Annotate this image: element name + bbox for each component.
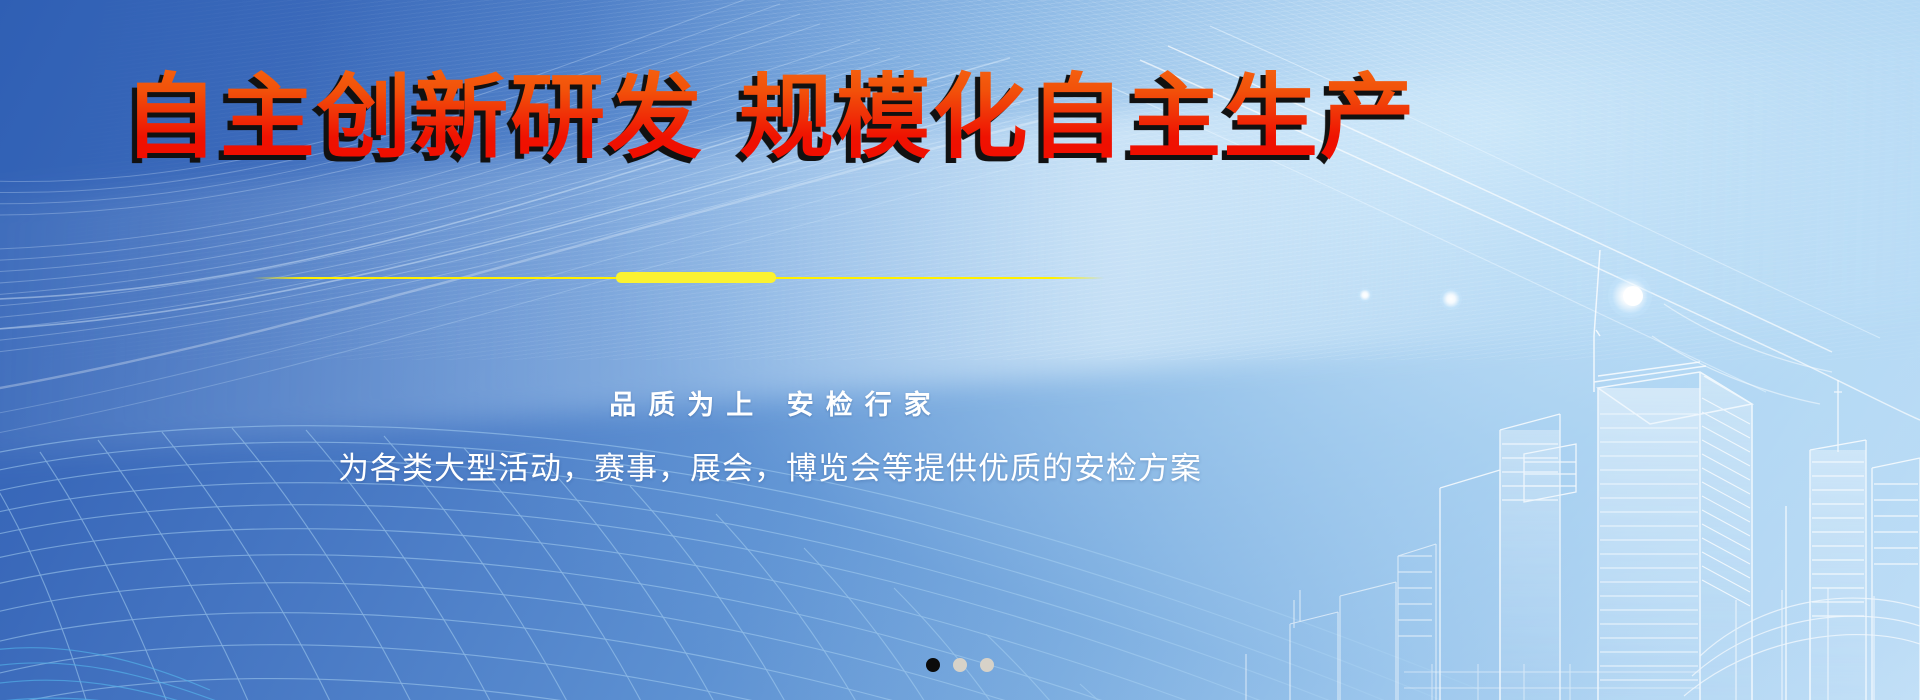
carousel-dot-1[interactable] (926, 658, 940, 672)
divider-center-nub (616, 272, 776, 283)
banner-content: 自主创新研发 规模化自主生产 品质为上 安检行家 为各类大型活动，赛事，展会，博… (0, 0, 1920, 700)
banner-subtagline: 为各类大型活动，赛事，展会，博览会等提供优质的安检方案 (0, 443, 1540, 488)
carousel-dot-3[interactable] (980, 658, 994, 672)
carousel-pagination (0, 658, 1920, 672)
banner-headline: 自主创新研发 规模化自主生产 (0, 68, 1563, 167)
hero-banner-slide: 自主创新研发 规模化自主生产 品质为上 安检行家 为各类大型活动，赛事，展会，博… (0, 0, 1920, 700)
yellow-divider (0, 271, 1540, 285)
banner-tagline: 品质为上 安检行家 (0, 383, 1540, 422)
carousel-dot-2[interactable] (953, 658, 967, 672)
